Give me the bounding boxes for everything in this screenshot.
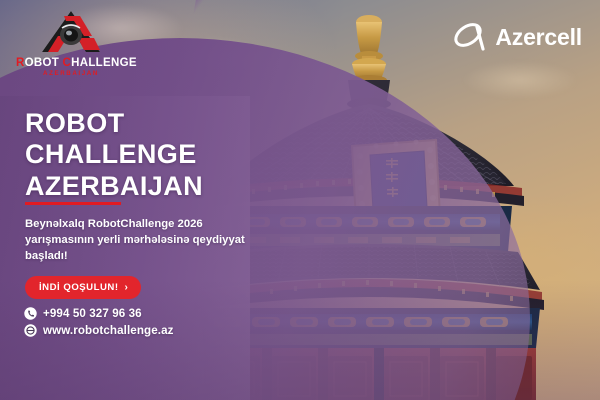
chevron-right-icon: › <box>125 283 129 293</box>
join-now-label: İNDİ QOŞULUN! <box>39 282 119 293</box>
logo-text-hallenge: HALLENGE <box>71 57 137 69</box>
robot-challenge-wordmark: ROBOT CHALLENGE <box>16 57 126 69</box>
azercell-wordmark: Azercell <box>495 24 582 51</box>
contact-website-row[interactable]: www.robotchallenge.az <box>24 324 174 337</box>
headline-line-1: ROBOT <box>25 108 203 139</box>
azercell-alpha-icon <box>452 20 490 54</box>
contact-list: +994 50 327 96 36 www.robotchallenge.az <box>24 307 174 341</box>
website-url: www.robotchallenge.az <box>43 324 174 337</box>
banner-content: ROBOT CHALLENGE AZERBAIJAN Azercell ROBO… <box>0 0 600 400</box>
join-now-button[interactable]: İNDİ QOŞULUN! › <box>25 276 141 299</box>
page-title: ROBOT CHALLENGE AZERBAIJAN <box>25 108 203 202</box>
logo-text-obot: OBOT <box>25 57 63 69</box>
headline-line-2: CHALLENGE <box>25 139 203 170</box>
azercell-logo: Azercell <box>452 20 582 54</box>
robot-challenge-triangle-icon <box>34 8 108 56</box>
contact-phone-row[interactable]: +994 50 327 96 36 <box>24 307 174 320</box>
robot-challenge-country: AZERBAIJAN <box>16 70 126 77</box>
logo-letter-r: R <box>16 57 25 69</box>
logo-letter-c: C <box>63 57 72 69</box>
headline-line-3: AZERBAIJAN <box>25 171 203 202</box>
phone-icon <box>24 307 37 320</box>
globe-icon <box>24 324 37 337</box>
phone-number: +994 50 327 96 36 <box>43 307 142 320</box>
robot-challenge-logo: ROBOT CHALLENGE AZERBAIJAN <box>16 8 126 77</box>
announcement-text: Beynəlxalq RobotChallenge 2026 yarışması… <box>25 216 249 264</box>
red-divider <box>25 202 121 205</box>
promotional-banner: ROBOT CHALLENGE AZERBAIJAN Azercell ROBO… <box>0 0 600 400</box>
